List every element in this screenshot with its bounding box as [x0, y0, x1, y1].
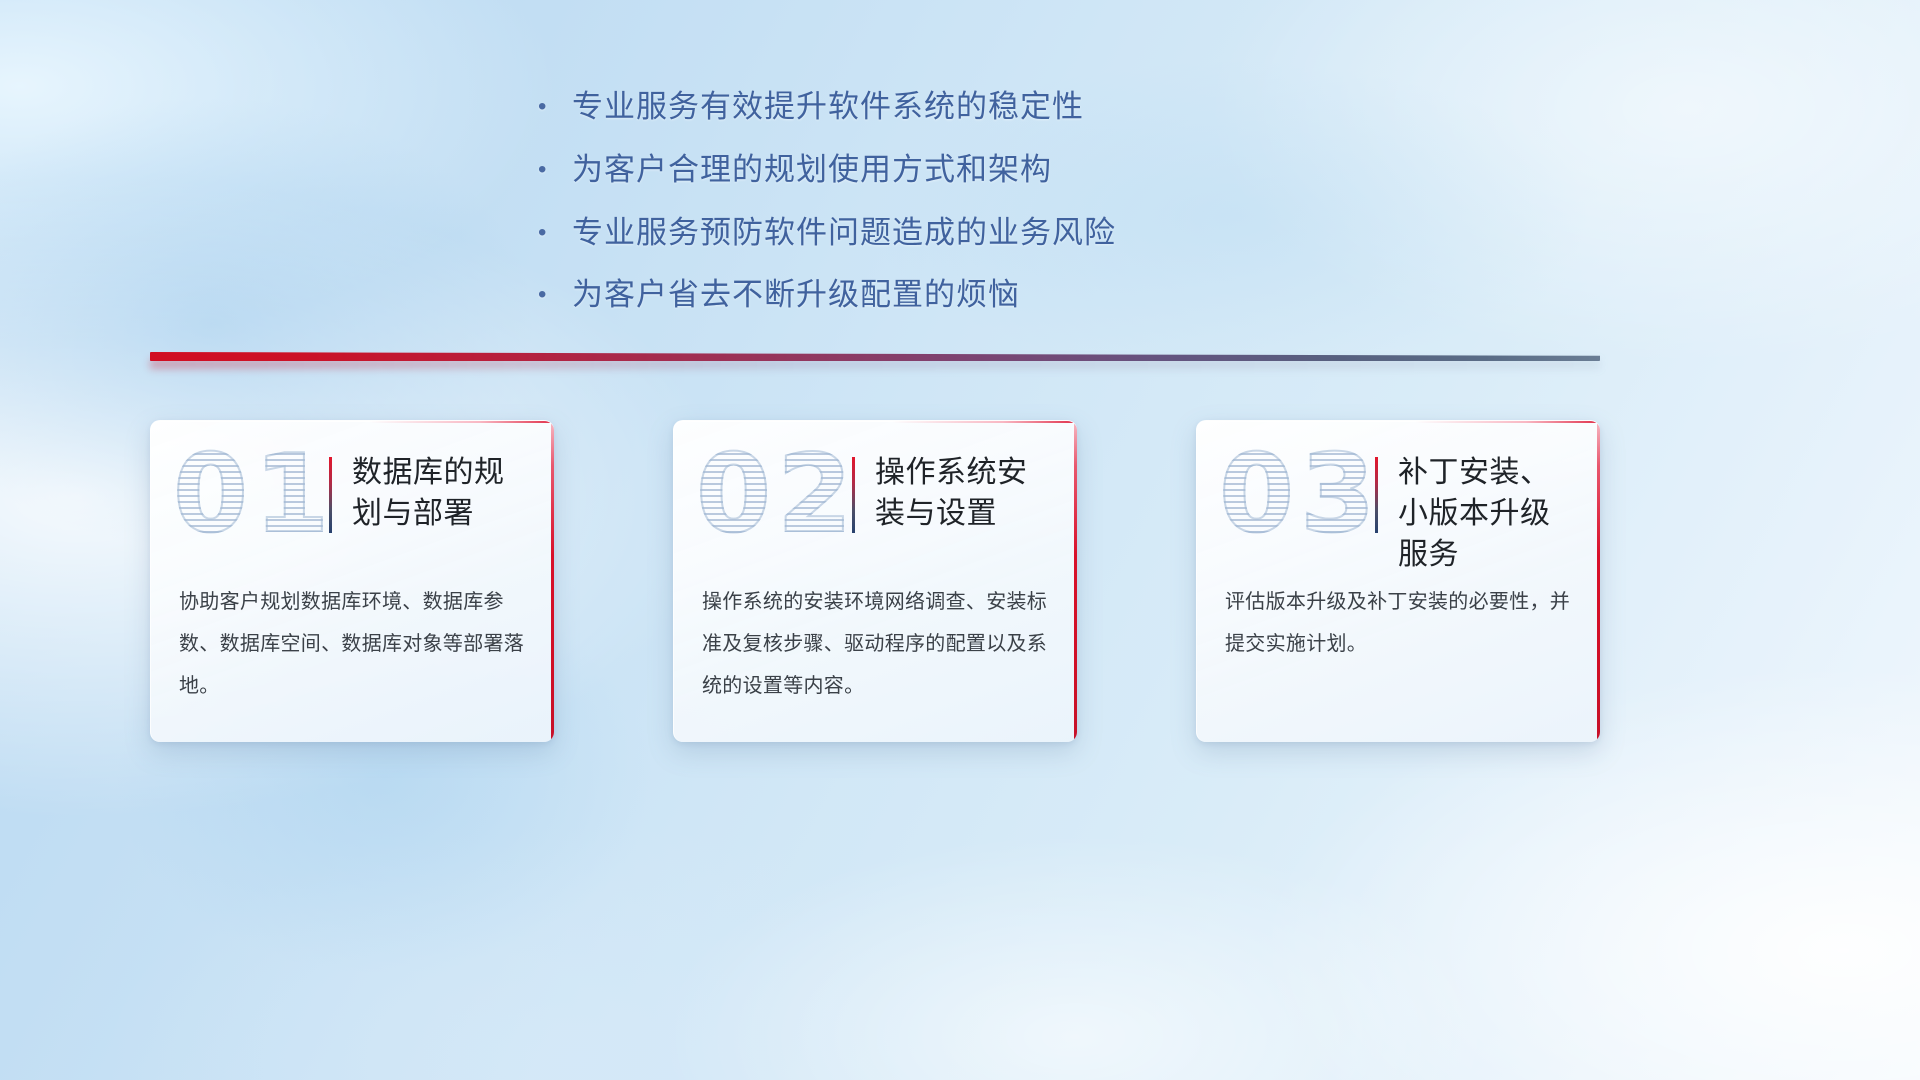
- list-item: • 为客户合理的规划使用方式和架构: [538, 149, 1298, 192]
- bullet-dot-icon: •: [538, 283, 572, 307]
- service-card-02[interactable]: 02 操作系统安装与设置 操作系统的安装环境网络调查、安装标准及复核步骤、驱动程…: [673, 420, 1077, 742]
- section-divider: [150, 348, 1600, 368]
- bullet-dot-icon: •: [538, 221, 572, 245]
- benefits-bullet-list: • 专业服务有效提升软件系统的稳定性 • 为客户合理的规划使用方式和架构 • 专…: [538, 86, 1298, 337]
- card-number-watermark: 02: [696, 441, 858, 549]
- service-card-group: 01 数据库的规划与部署 协助客户规划数据库环境、数据库参数、数据库空间、数据库…: [150, 420, 1600, 742]
- card-header: 数据库的规划与部署: [329, 453, 534, 535]
- service-card-03[interactable]: 03 补丁安装、小版本升级服务 评估版本升级及补丁安装的必要性，并提交实施计划。: [1196, 420, 1600, 742]
- card-body-text: 操作系统的安装环境网络调查、安装标准及复核步骤、驱动程序的配置以及系统的设置等内…: [702, 581, 1051, 707]
- bullet-dot-icon: •: [538, 158, 572, 182]
- bullet-text-2: 为客户合理的规划使用方式和架构: [572, 149, 1298, 192]
- card-number-watermark: 01: [173, 441, 335, 549]
- bullet-text-3: 专业服务预防软件问题造成的业务风险: [572, 212, 1298, 255]
- bullet-text-4: 为客户省去不断升级配置的烦恼: [572, 274, 1298, 317]
- card-title: 操作系统安装与设置: [875, 453, 1057, 535]
- card-header: 操作系统安装与设置: [852, 453, 1057, 535]
- title-accent-rule: [1375, 457, 1378, 533]
- title-accent-rule: [329, 457, 332, 533]
- title-accent-rule: [852, 457, 855, 533]
- bullet-dot-icon: •: [538, 95, 572, 119]
- list-item: • 为客户省去不断升级配置的烦恼: [538, 274, 1298, 317]
- bullet-text-1: 专业服务有效提升软件系统的稳定性: [572, 86, 1298, 129]
- list-item: • 专业服务预防软件问题造成的业务风险: [538, 212, 1298, 255]
- card-body-text: 评估版本升级及补丁安装的必要性，并提交实施计划。: [1225, 581, 1574, 665]
- card-number-watermark: 03: [1219, 441, 1381, 549]
- divider-line: [150, 352, 1600, 361]
- list-item: • 专业服务有效提升软件系统的稳定性: [538, 86, 1298, 129]
- card-title: 补丁安装、小版本升级服务: [1398, 453, 1580, 575]
- card-body-text: 协助客户规划数据库环境、数据库参数、数据库空间、数据库对象等部署落地。: [179, 581, 528, 707]
- service-card-01[interactable]: 01 数据库的规划与部署 协助客户规划数据库环境、数据库参数、数据库空间、数据库…: [150, 420, 554, 742]
- card-title: 数据库的规划与部署: [352, 453, 534, 535]
- card-header: 补丁安装、小版本升级服务: [1375, 453, 1580, 575]
